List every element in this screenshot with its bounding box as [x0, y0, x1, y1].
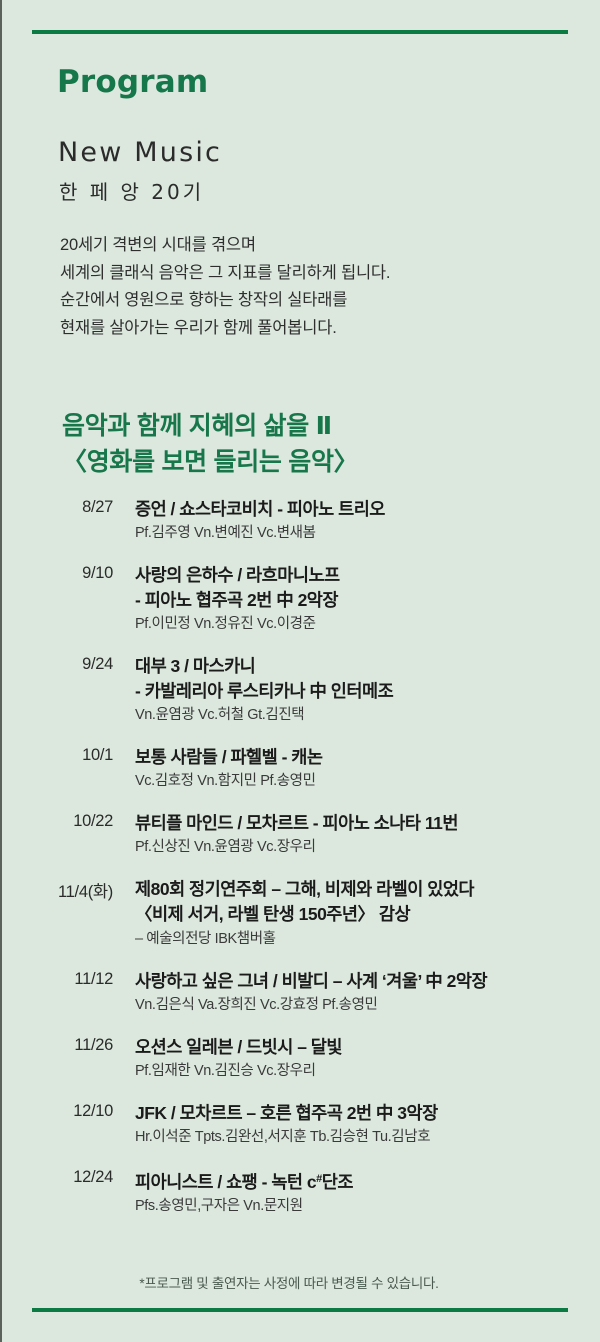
schedule-title: 뷰티플 마인드 / 모차르트 - 피아노 소나타 11번 [135, 811, 588, 836]
schedule-title: 대부 3 / 마스카니 [135, 654, 588, 679]
schedule-row: 11/12 사랑하고 싶은 그녀 / 비발디 – 사계 ‘겨울’ 中 2악장 V… [0, 969, 600, 1016]
schedule-details: 보통 사람들 / 파헬벨 - 캐논 Vc.김호정 Vn.함지민 Pf.송영민 [135, 745, 600, 792]
intro-line: 순간에서 영원으로 향하는 창작의 실타래를 [60, 287, 390, 315]
schedule-date: 8/27 [0, 498, 113, 517]
ensemble-name-korean: 한 페 앙 20기 [59, 176, 204, 205]
schedule-row: 8/27 증언 / 쇼스타코비치 - 피아노 트리오 Pf.김주영 Vn.변예진… [0, 497, 600, 544]
schedule-subtitle: - 카발레리아 루스티카나 中 인터메조 [135, 679, 588, 704]
schedule-details: 피아니스트 / 쇼팽 - 녹턴 c#단조 Pfs.송영민,구자은 Vn.문지원 [135, 1167, 600, 1217]
schedule-date: 12/24 [0, 1168, 113, 1187]
schedule-date: 10/22 [0, 812, 113, 831]
left-edge-strip [0, 0, 2, 1342]
schedule-date: 11/12 [0, 970, 113, 989]
bottom-divider-rule [32, 1308, 568, 1312]
intro-paragraph: 20세기 격변의 시대를 겪으며 세계의 클래식 음악은 그 지표를 달리하게 … [60, 232, 390, 342]
schedule-details: JFK / 모차르트 – 호른 협주곡 2번 中 3악장 Hr.이석준 Tpts… [135, 1101, 600, 1148]
schedule-performers: Pf.임재한 Vn.김진승 Vc.장우리 [135, 1061, 588, 1082]
schedule-row: 10/22 뷰티플 마인드 / 모차르트 - 피아노 소나타 11번 Pf.신상… [0, 811, 600, 858]
schedule-performers: Vc.김호정 Vn.함지민 Pf.송영민 [135, 771, 588, 792]
schedule-subtitle: - 피아노 협주곡 2번 中 2악장 [135, 588, 588, 613]
footnote: *프로그램 및 출연자는 사정에 따라 변경될 수 있습니다. [0, 1272, 600, 1292]
schedule-row: 12/10 JFK / 모차르트 – 호른 협주곡 2번 中 3악장 Hr.이석… [0, 1101, 600, 1148]
schedule-title: 보통 사람들 / 파헬벨 - 캐논 [135, 745, 588, 770]
schedule-row: 9/24 대부 3 / 마스카니 - 카발레리아 루스티카나 中 인터메조 Vn… [0, 654, 600, 726]
schedule-performers: Pfs.송영민,구자은 Vn.문지원 [135, 1196, 588, 1217]
schedule-title: 피아니스트 / 쇼팽 - 녹턴 c#단조 [135, 1167, 588, 1195]
schedule-details: 사랑하고 싶은 그녀 / 비발디 – 사계 ‘겨울’ 中 2악장 Vn.김은식 … [135, 969, 600, 1016]
schedule-title: 사랑하고 싶은 그녀 / 비발디 – 사계 ‘겨울’ 中 2악장 [135, 969, 588, 994]
schedule-title: 오션스 일레븐 / 드빗시 – 달빛 [135, 1035, 588, 1060]
schedule-performers: Pf.이민정 Vn.정유진 Vc.이경준 [135, 614, 588, 635]
schedule-title-text: 피아니스트 / 쇼팽 - 녹턴 c [135, 1172, 316, 1192]
schedule-performers: Vn.김은식 Va.장희진 Vc.강효정 Pf.송영민 [135, 995, 588, 1016]
intro-line: 현재를 살아가는 우리가 함께 풀어봅니다. [60, 315, 390, 343]
program-poster: Program New Music 한 페 앙 20기 20세기 격변의 시대를… [0, 0, 600, 1342]
intro-line: 20세기 격변의 시대를 겪으며 [60, 232, 390, 260]
schedule-date: 9/10 [0, 564, 113, 583]
schedule-details: 증언 / 쇼스타코비치 - 피아노 트리오 Pf.김주영 Vn.변예진 Vc.변… [135, 497, 600, 544]
schedule-row: 12/24 피아니스트 / 쇼팽 - 녹턴 c#단조 Pfs.송영민,구자은 V… [0, 1167, 600, 1217]
schedule-performers: Hr.이석준 Tpts.김완선,서지훈 Tb.김승현 Tu.김남호 [135, 1127, 588, 1148]
schedule-details: 오션스 일레븐 / 드빗시 – 달빛 Pf.임재한 Vn.김진승 Vc.장우리 [135, 1035, 600, 1082]
schedule-date: 10/1 [0, 746, 113, 765]
schedule-performers: Pf.신상진 Vn.윤염광 Vc.장우리 [135, 837, 588, 858]
top-divider-rule [32, 30, 568, 34]
schedule-title: 증언 / 쇼스타코비치 - 피아노 트리오 [135, 497, 588, 522]
schedule-details: 제80회 정기연주회 – 그해, 비제와 라벨이 있었다 〈비제 서거, 라벨 … [135, 877, 600, 950]
section-heading: 음악과 함께 지혜의 삶을 Ⅱ 〈영화를 보면 들리는 음악〉 [62, 408, 358, 480]
schedule-title: 제80회 정기연주회 – 그해, 비제와 라벨이 있었다 [135, 877, 588, 902]
section-heading-line-1: 음악과 함께 지혜의 삶을 Ⅱ [62, 408, 358, 444]
schedule-list: 8/27 증언 / 쇼스타코비치 - 피아노 트리오 Pf.김주영 Vn.변예진… [0, 497, 600, 1236]
schedule-subtitle: 〈비제 서거, 라벨 탄생 150주년〉 감상 [135, 902, 588, 927]
schedule-title-suffix: 단조 [322, 1172, 353, 1192]
schedule-date: 9/24 [0, 655, 113, 674]
schedule-details: 대부 3 / 마스카니 - 카발레리아 루스티카나 中 인터메조 Vn.윤염광 … [135, 654, 600, 726]
ensemble-name-english: New Music [58, 137, 222, 168]
schedule-row: 9/10 사랑의 은하수 / 라흐마니노프 - 피아노 협주곡 2번 中 2악장… [0, 563, 600, 635]
schedule-performers: Vn.윤염광 Vc.허철 Gt.김진택 [135, 705, 588, 726]
schedule-date: 11/4(화) [0, 878, 113, 902]
schedule-date: 12/10 [0, 1102, 113, 1121]
schedule-venue: – 예술의전당 IBK챔버홀 [135, 928, 588, 950]
section-heading-line-2: 〈영화를 보면 들리는 음악〉 [62, 444, 358, 480]
schedule-row: 11/26 오션스 일레븐 / 드빗시 – 달빛 Pf.임재한 Vn.김진승 V… [0, 1035, 600, 1082]
schedule-date: 11/26 [0, 1036, 113, 1055]
schedule-performers: Pf.김주영 Vn.변예진 Vc.변새봄 [135, 523, 588, 544]
schedule-details: 뷰티플 마인드 / 모차르트 - 피아노 소나타 11번 Pf.신상진 Vn.윤… [135, 811, 600, 858]
schedule-row: 11/4(화) 제80회 정기연주회 – 그해, 비제와 라벨이 있었다 〈비제… [0, 877, 600, 950]
page-title: Program [57, 64, 208, 100]
schedule-details: 사랑의 은하수 / 라흐마니노프 - 피아노 협주곡 2번 中 2악장 Pf.이… [135, 563, 600, 635]
intro-line: 세계의 클래식 음악은 그 지표를 달리하게 됩니다. [60, 260, 390, 288]
schedule-title: 사랑의 은하수 / 라흐마니노프 [135, 563, 588, 588]
schedule-title: JFK / 모차르트 – 호른 협주곡 2번 中 3악장 [135, 1101, 588, 1126]
schedule-row: 10/1 보통 사람들 / 파헬벨 - 캐논 Vc.김호정 Vn.함지민 Pf.… [0, 745, 600, 792]
